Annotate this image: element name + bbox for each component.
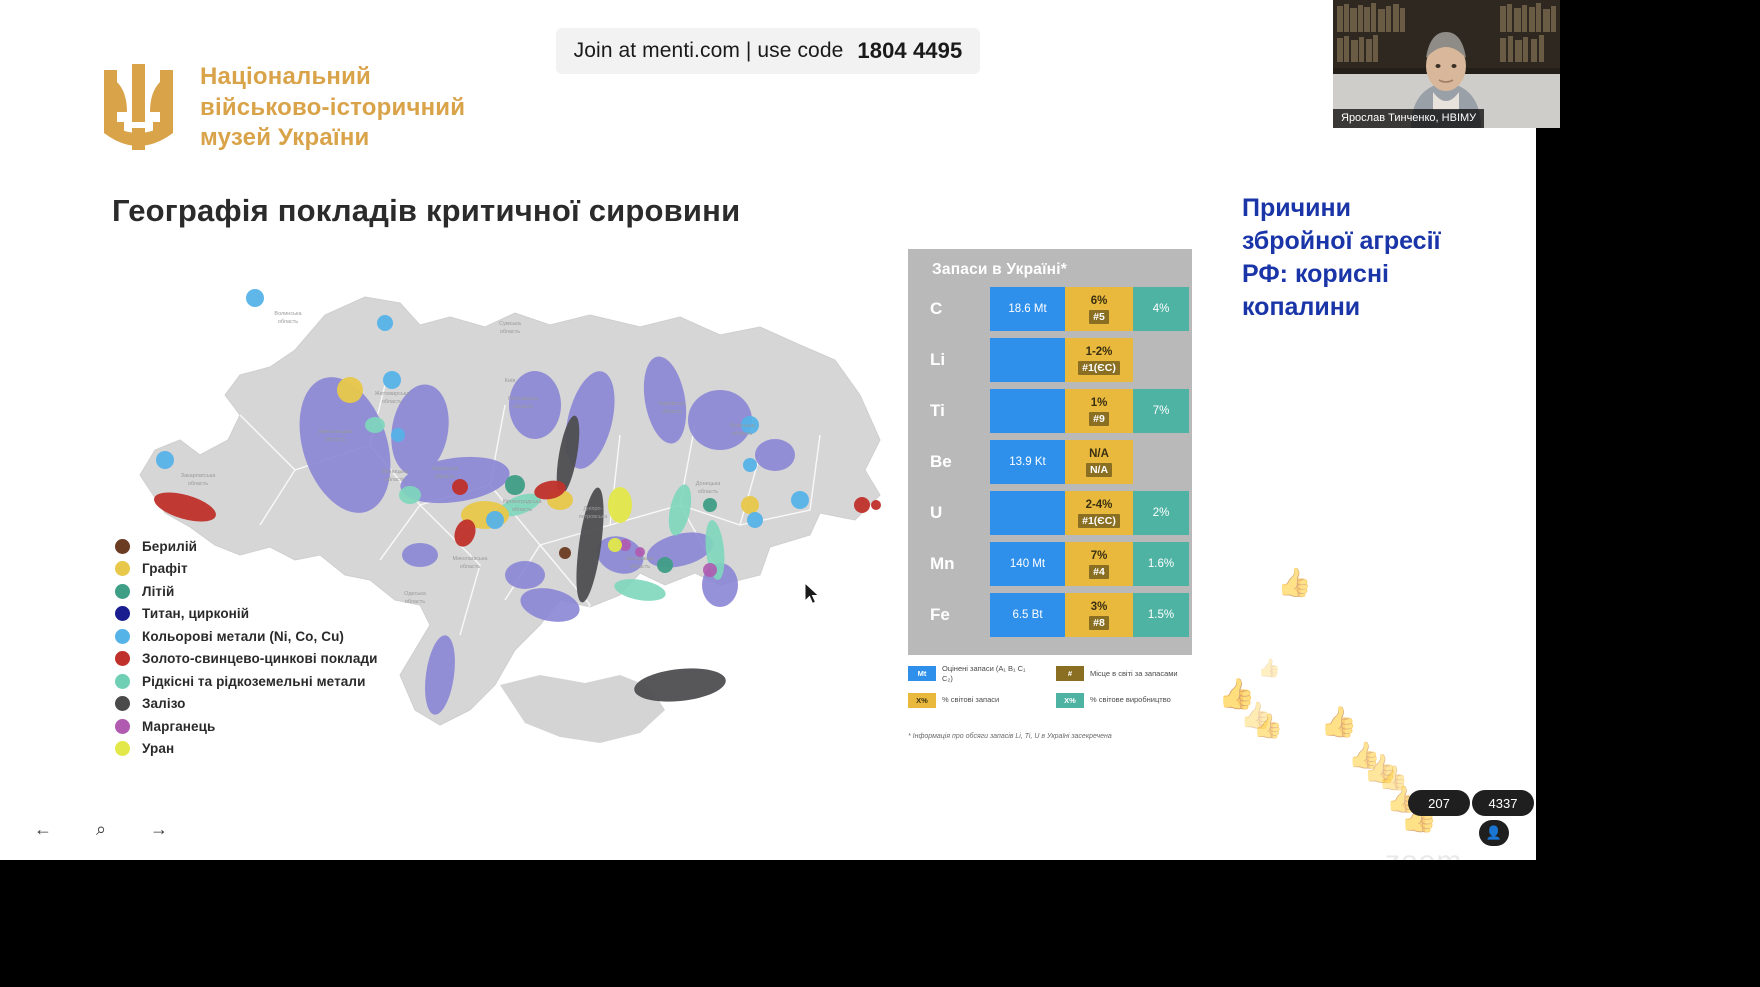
legend-item: Марганець: [115, 715, 455, 738]
production-share: [1133, 440, 1189, 484]
legend-color-dot: [115, 741, 130, 756]
reserve-world-rank: #8: [1089, 616, 1109, 630]
svg-text:Донецька: Донецька: [696, 481, 721, 487]
svg-text:Миколаївська: Миколаївська: [453, 556, 489, 562]
swatch-world-production-share: X%: [1056, 693, 1084, 708]
svg-text:Черкаська: Черкаська: [432, 466, 460, 472]
legend-item-label: Рідкісні та рідкоземельні метали: [142, 674, 365, 689]
legend-color-dot: [115, 584, 130, 599]
menti-navigation: ← ⌕ →: [22, 808, 180, 850]
reserves-legend-label: % світове виробництво: [1090, 695, 1182, 705]
element-symbol: Mn: [930, 542, 990, 586]
legend-item-label: Титан, цирконій: [142, 606, 249, 621]
reserve-share-pct: 1-2%: [1086, 345, 1113, 361]
legend-item: Кольорові метали (Ni, Co, Cu): [115, 625, 455, 648]
legend-item: Берилій: [115, 535, 455, 558]
svg-text:область: область: [382, 399, 402, 405]
legend-item-label: Залізо: [142, 696, 186, 711]
table-row: Ti 1% #9 7%: [908, 389, 1192, 433]
table-row: C 18.6 Mt 6% #5 4%: [908, 287, 1192, 331]
reserve-amount: [990, 491, 1065, 535]
menti-join-banner: Join at menti.com | use code 1804 4495: [556, 28, 980, 74]
reserves-footnote: * Інформація про обсяги запасів Li, Ti, …: [908, 733, 1112, 740]
svg-text:Закарпатська: Закарпатська: [181, 473, 217, 479]
map-legend: Берилій Графіт Літій Титан, цирконій Кол…: [115, 535, 455, 760]
production-share: 1.6%: [1133, 542, 1189, 586]
reserves-legend-item: X% % світові запаси: [908, 693, 1034, 708]
legend-item-label: Уран: [142, 741, 174, 756]
reserves-table-title: Запаси в Україні*: [908, 249, 1192, 287]
element-symbol: Ti: [930, 389, 990, 433]
reserve-share-pct: 7%: [1091, 549, 1108, 565]
reserve-share-pct: 6%: [1091, 294, 1108, 310]
reserves-legend-item: # Місце в світі за запасами: [1056, 664, 1182, 684]
reserve-world-rank: #4: [1089, 565, 1109, 579]
reserve-world-rank: #1(ЄС): [1078, 361, 1120, 375]
legend-color-dot: [115, 539, 130, 554]
element-symbol: Fe: [930, 593, 990, 637]
swatch-world-rank: #: [1056, 666, 1084, 681]
reserves-legend-label: Оцінені запаси (A₁ B₁ C₁ C₂): [942, 664, 1034, 684]
production-share: 1.5%: [1133, 593, 1189, 637]
table-row: Li 1-2% #1(ЄС): [908, 338, 1192, 382]
reaction-count-right[interactable]: 4337: [1472, 790, 1534, 816]
reserve-share-cell: 7% #4: [1065, 542, 1133, 586]
museum-name-line-2: військово-історичний: [200, 93, 465, 124]
reaction-thumbs-up: 👍: [1320, 705, 1357, 740]
reserve-world-rank: #9: [1089, 412, 1109, 426]
element-symbol: Li: [930, 338, 990, 382]
reserves-legend-item: Mt Оцінені запаси (A₁ B₁ C₁ C₂): [908, 664, 1034, 684]
element-symbol: C: [930, 287, 990, 331]
svg-text:Полтавська: Полтавська: [508, 396, 539, 402]
svg-text:петровська: петровська: [579, 514, 608, 520]
reaction-thumbs-up: 👍: [1253, 712, 1283, 741]
legend-item: Рідкісні та рідкоземельні метали: [115, 670, 455, 693]
legend-item: Титан, цирконій: [115, 603, 455, 626]
reserve-share-cell: 6% #5: [1065, 287, 1133, 331]
zoom-bottom-letterbox: [0, 860, 1536, 987]
svg-text:Волинська: Волинська: [274, 311, 302, 317]
legend-color-dot: [115, 651, 130, 666]
svg-text:Харківська: Харківська: [658, 401, 686, 407]
svg-text:область: область: [325, 437, 345, 443]
section-heading-line-4: копалини: [1242, 291, 1492, 324]
reserve-share-pct: N/A: [1089, 447, 1109, 463]
previous-slide-button[interactable]: ←: [22, 808, 64, 850]
element-symbol: Be: [930, 440, 990, 484]
legend-item-label: Графіт: [142, 561, 188, 576]
reserve-world-rank: N/A: [1086, 463, 1112, 477]
section-heading: Причини збройної агресії РФ: корисні коп…: [1242, 192, 1492, 324]
svg-text:Хмельницька: Хмельницька: [318, 429, 353, 435]
svg-text:Дніпро-: Дніпро-: [584, 506, 603, 512]
reserve-world-rank: #1(ЄС): [1078, 514, 1120, 528]
museum-name-line-3: музей України: [200, 123, 465, 154]
reserve-amount: 18.6 Mt: [990, 287, 1065, 331]
svg-text:область: область: [500, 329, 520, 335]
svg-text:Вінницька: Вінницька: [382, 469, 409, 475]
svg-text:Сумська: Сумська: [499, 321, 522, 327]
legend-color-dot: [115, 696, 130, 711]
reserves-legend: Mt Оцінені запаси (A₁ B₁ C₁ C₂) # Місце …: [908, 664, 1198, 717]
table-row: Mn 140 Mt 7% #4 1.6%: [908, 542, 1192, 586]
menti-join-prompt: Join at menti.com | use code: [574, 39, 844, 63]
reserve-share-pct: 1%: [1091, 396, 1108, 412]
svg-text:область: область: [513, 404, 533, 410]
reserve-amount: 13.9 Kt: [990, 440, 1065, 484]
section-heading-line-2: збройної агресії: [1242, 225, 1492, 258]
reserve-share-cell: 1% #9: [1065, 389, 1133, 433]
reserve-amount: [990, 338, 1065, 382]
reserves-legend-label: Місце в світі за запасами: [1090, 669, 1182, 679]
reserve-share-cell: 1-2% #1(ЄС): [1065, 338, 1133, 382]
webcam-pip[interactable]: Ярослав Тинченко, НВІМУ: [1333, 0, 1560, 128]
legend-item: Залізо: [115, 693, 455, 716]
svg-text:область: область: [630, 564, 650, 570]
menti-pin-button[interactable]: ⌕: [80, 808, 122, 850]
svg-text:Житомирська: Житомирська: [375, 391, 411, 397]
ukraine-trident-icon: [96, 62, 182, 154]
svg-text:область: область: [732, 431, 752, 437]
legend-color-dot: [115, 561, 130, 576]
svg-text:Київ: Київ: [505, 378, 516, 384]
reserve-amount: 140 Mt: [990, 542, 1065, 586]
legend-color-dot: [115, 719, 130, 734]
svg-text:Луганська: Луганська: [729, 423, 756, 429]
reserve-world-rank: #5: [1089, 310, 1109, 324]
reaction-thumbs-up: 👍: [1277, 566, 1312, 599]
svg-text:область: область: [460, 564, 480, 570]
section-heading-line-1: Причини: [1242, 192, 1492, 225]
reaction-thumbs-up: 👍: [1258, 658, 1280, 679]
next-slide-button[interactable]: →: [138, 808, 180, 850]
svg-text:область: область: [662, 409, 682, 415]
shared-screen-slide: Join at menti.com | use code 1804 4495 Н…: [0, 0, 1536, 987]
table-row: U 2-4% #1(ЄС) 2%: [908, 491, 1192, 535]
reaction-count-left[interactable]: 207: [1408, 790, 1470, 816]
section-heading-line-3: РФ: корисні: [1242, 258, 1492, 291]
person-icon[interactable]: 👤: [1479, 820, 1509, 846]
legend-color-dot: [115, 674, 130, 689]
menti-join-code: 1804 4495: [857, 38, 962, 64]
production-share: 2%: [1133, 491, 1189, 535]
reserve-share-cell: 3% #8: [1065, 593, 1133, 637]
svg-text:Кіровоградська: Кіровоградська: [503, 499, 543, 505]
svg-text:Запорізька: Запорізька: [626, 556, 655, 562]
legend-item-label: Берилій: [142, 539, 197, 554]
legend-item: Графіт: [115, 558, 455, 581]
legend-item-label: Літій: [142, 584, 174, 599]
legend-item: Уран: [115, 738, 455, 761]
legend-color-dot: [115, 629, 130, 644]
legend-item-label: Кольорові метали (Ni, Co, Cu): [142, 629, 344, 644]
webcam-participant-name: Ярослав Тинченко, НВІМУ: [1333, 109, 1484, 128]
reserves-table-card: Запаси в Україні* C 18.6 Mt 6% #5 4% Li …: [908, 249, 1192, 655]
legend-item: Літій: [115, 580, 455, 603]
svg-text:область: область: [188, 481, 208, 487]
element-symbol: U: [930, 491, 990, 535]
legend-item-label: Золото-свинцево-цинкові поклади: [142, 651, 378, 666]
svg-text:область: область: [512, 507, 532, 513]
reserve-share-cell: N/A N/A: [1065, 440, 1133, 484]
legend-item-label: Марганець: [142, 719, 215, 734]
reserves-legend-label: % світові запаси: [942, 695, 1034, 705]
production-share: 4%: [1133, 287, 1189, 331]
reserve-amount: 6.5 Bt: [990, 593, 1065, 637]
svg-text:область: область: [435, 474, 455, 480]
legend-item: Золото-свинцево-цинкові поклади: [115, 648, 455, 671]
legend-color-dot: [115, 606, 130, 621]
slide-title: Географія покладів критичної сировини: [112, 193, 740, 229]
reserve-share-pct: 3%: [1091, 600, 1108, 616]
swatch-world-reserve-share: X%: [908, 693, 936, 708]
table-row: Be 13.9 Kt N/A N/A: [908, 440, 1192, 484]
reserve-share-cell: 2-4% #1(ЄС): [1065, 491, 1133, 535]
reserves-legend-item: X% % світове виробництво: [1056, 693, 1182, 708]
svg-text:область: область: [698, 489, 718, 495]
museum-logo-text: Національний військово-історичний музей …: [200, 62, 465, 154]
reserve-share-pct: 2-4%: [1086, 498, 1113, 514]
production-share: 7%: [1133, 389, 1189, 433]
swatch-estimated-reserves: Mt: [908, 666, 936, 681]
zoom-right-letterbox: [1536, 0, 1760, 987]
svg-text:область: область: [278, 319, 298, 325]
museum-logo: Національний військово-історичний музей …: [96, 62, 465, 154]
production-share: [1133, 338, 1189, 382]
reserve-amount: [990, 389, 1065, 433]
table-row: Fe 6.5 Bt 3% #8 1.5%: [908, 593, 1192, 637]
svg-text:область: область: [385, 477, 405, 483]
museum-name-line-1: Національний: [200, 62, 465, 93]
